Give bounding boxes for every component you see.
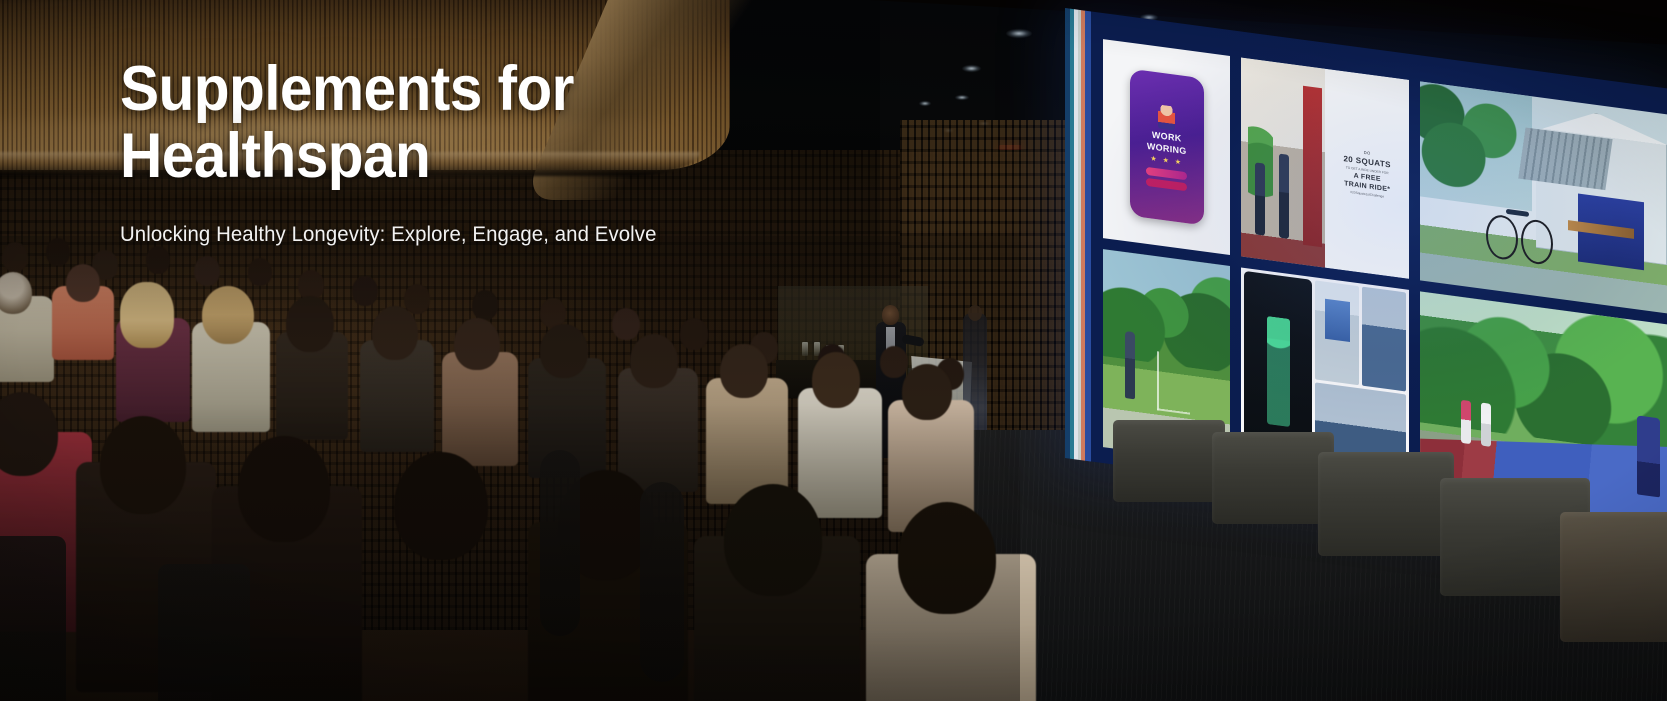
tree-backdrop — [1420, 81, 1532, 211]
auditorium-seat-back — [540, 450, 580, 636]
audience-head — [194, 256, 220, 286]
audience-head — [0, 272, 32, 314]
audience-head — [404, 284, 430, 314]
armchair — [1113, 420, 1225, 502]
audience-head — [454, 318, 500, 370]
armchair — [1560, 512, 1667, 642]
audience-head — [880, 346, 908, 378]
solar-panel-icon — [1518, 127, 1612, 189]
audience-head — [2, 242, 28, 272]
armchair — [1318, 452, 1454, 556]
runner-figure — [1461, 400, 1471, 445]
auditorium-seat-back — [158, 564, 250, 701]
park-visitor — [1125, 331, 1135, 400]
audience-head — [812, 352, 860, 408]
squat-poster: DO 20 SQUATS TO GET A RIDE UNDER FOR A F… — [1325, 69, 1409, 279]
health-kiosk-photo — [1315, 280, 1359, 386]
audience-head — [724, 484, 822, 596]
page-subtitle: Unlocking Healthy Longevity: Explore, En… — [120, 223, 857, 247]
audience-head — [394, 452, 488, 560]
kiosk-photo-row — [1315, 280, 1406, 392]
audience-head — [286, 296, 334, 352]
audience-head — [898, 502, 996, 614]
audience-head — [0, 392, 58, 476]
outdoor-gym-equipment — [1157, 351, 1190, 415]
red-wall-panel — [1303, 86, 1321, 247]
audience-crowd — [0, 236, 1020, 701]
users-photo — [1362, 286, 1406, 392]
ceiling-downlight-icon — [1006, 29, 1032, 38]
gym-interior-photo — [1241, 58, 1325, 268]
phone-mockup: WORK WORING ★ ★ ★ — [1130, 68, 1204, 225]
ceiling-downlight-icon — [955, 95, 969, 100]
audience-head — [612, 308, 640, 340]
audience-head — [372, 306, 418, 360]
ceiling-downlight-icon — [919, 101, 931, 106]
audience-head — [238, 436, 330, 542]
body-silhouette-icon — [1267, 316, 1290, 427]
slide-panel-app-mockup: WORK WORING ★ ★ ★ — [1103, 39, 1230, 255]
app-stars-icon: ★ ★ ★ — [1150, 154, 1183, 166]
auditorium-seat-back — [640, 482, 684, 682]
hero-text-block: Supplements for Healthspan Unlocking Hea… — [120, 56, 880, 247]
audience-head — [472, 290, 498, 320]
audience-head — [680, 318, 708, 350]
cyclist-figure — [1637, 415, 1660, 497]
audience-head — [248, 258, 272, 286]
audience-head — [100, 416, 186, 514]
exercising-person — [1255, 163, 1265, 236]
audience-head — [120, 282, 174, 348]
page-title: Supplements for Healthspan — [120, 56, 827, 191]
ceiling-downlight-icon — [962, 65, 981, 72]
slide-panel-squat-poster: DO 20 SQUATS TO GET A RIDE UNDER FOR A F… — [1241, 58, 1409, 279]
audience-head — [146, 246, 170, 274]
app-secondary-button — [1146, 178, 1187, 191]
palm-canopy — [1420, 291, 1667, 456]
auditorium-seat-back — [0, 536, 66, 701]
screen-edge-stripes — [1065, 8, 1091, 461]
audience-head — [540, 324, 588, 378]
app-mascot-icon — [1158, 104, 1175, 130]
armchair — [1212, 432, 1334, 524]
bicycle-seat — [1506, 208, 1529, 217]
audience-head — [630, 334, 678, 388]
exercising-person — [1279, 154, 1289, 239]
audience-head — [720, 344, 768, 398]
poster-prefix: DO — [1364, 150, 1371, 156]
runner-figure — [1481, 402, 1491, 447]
audience-head — [352, 276, 378, 306]
audience-head — [202, 286, 254, 344]
slide-panel-bike-kiosk — [1420, 81, 1667, 314]
audience-head — [46, 238, 70, 266]
hero-banner: WORK WORING ★ ★ ★ — [0, 0, 1667, 701]
audience-head — [66, 264, 100, 302]
bicycle-icon — [1486, 201, 1552, 265]
audience-head — [902, 364, 952, 420]
